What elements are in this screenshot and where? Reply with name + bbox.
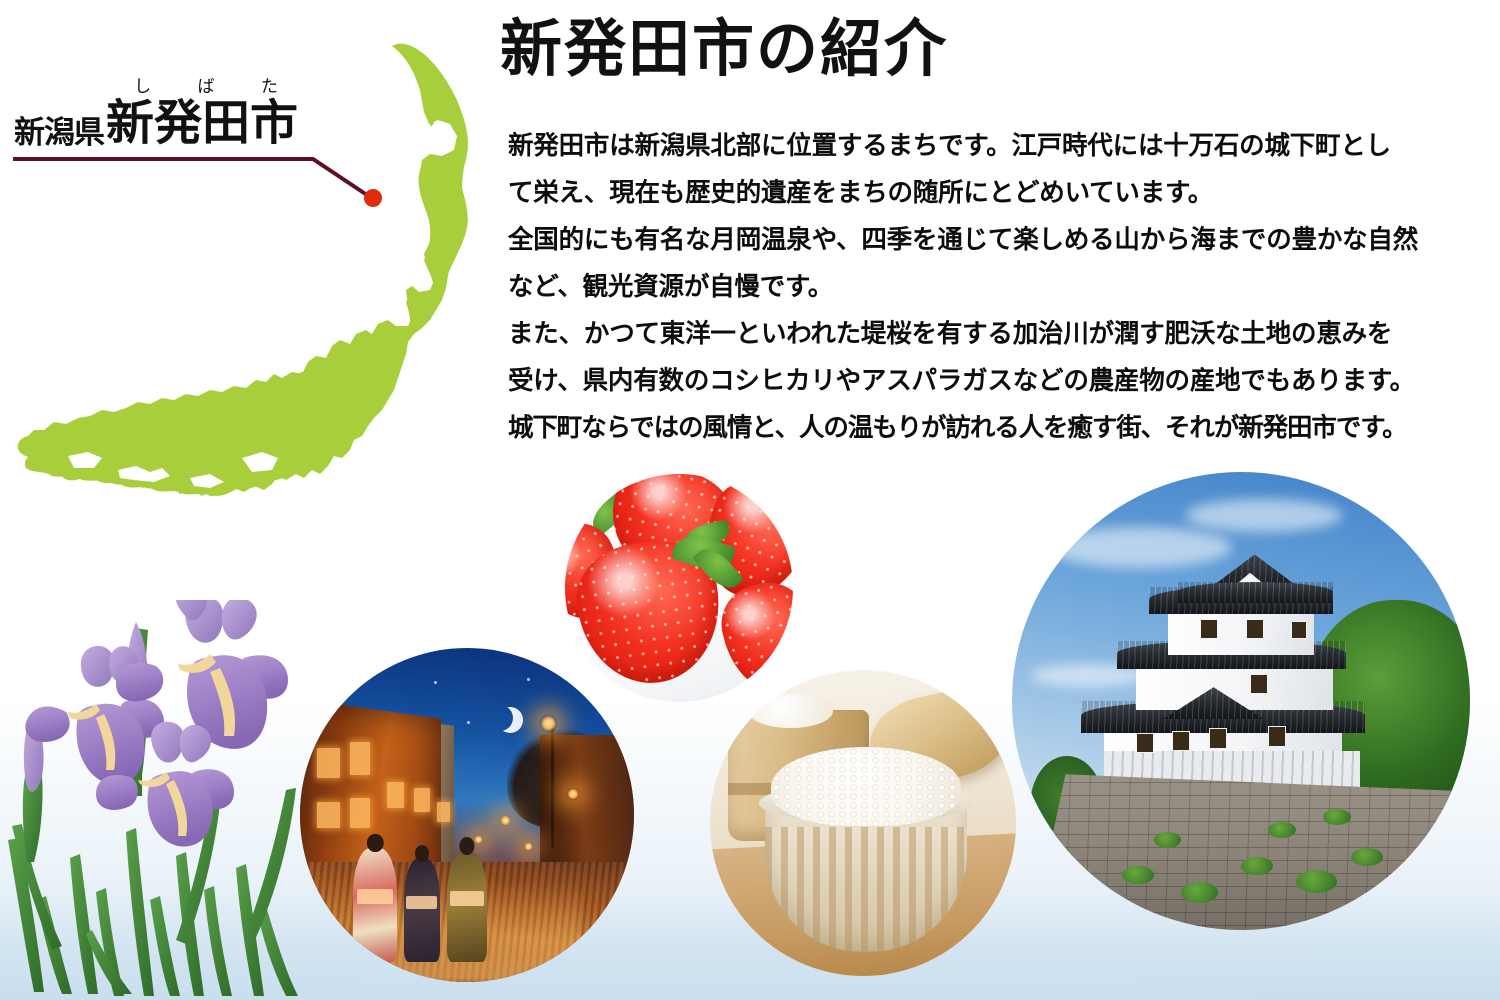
body-line-3: 全国的にも有名な月岡温泉や、四季を通じて楽しめる山から海までの豊かな自然: [508, 216, 1468, 263]
poster-canvas: し ば た 新潟県 新発田市 新発田市の紹介 新発田市は新潟県北部に位置するまち…: [0, 0, 1500, 1000]
body-line-6: 受け、県内有数のコシヒカリやアスパラガスなどの農産物の産地でもあります。: [508, 357, 1468, 404]
intro-body-text: 新発田市は新潟県北部に位置するまちです。江戸時代には十万石の城下町とし て栄え、…: [508, 122, 1468, 451]
body-line-2: て栄え、現在も歴史的遺産をまちの随所にとどめいています。: [508, 169, 1468, 216]
body-line-4: など、観光資源が自慢です。: [508, 263, 1468, 310]
iris-flowers-illustration: [0, 600, 330, 1000]
map-marker-dot: [364, 189, 382, 207]
map-label-text: 新潟県 新発田市: [14, 100, 298, 148]
body-line-7: 城下町ならではの風情と、人の温もりが訪れる人を癒す街、それが新発田市です。: [508, 404, 1468, 451]
koshihikari-rice-bowl-photo: [710, 670, 1016, 976]
ruby-char-2: ば: [197, 78, 214, 95]
map-leader-line: [0, 140, 420, 220]
shibata-castle-photo: [1012, 472, 1470, 930]
tsukioka-onsen-street-photo: [300, 648, 634, 982]
ruby-annotation: し ば た: [111, 78, 301, 95]
ruby-char-3: た: [261, 78, 278, 95]
prefecture-label: 新潟県: [14, 117, 104, 148]
ruby-char-1: し: [134, 78, 151, 95]
body-line-5: また、かつて東洋一といわれた堤桜を有する加治川が潤す肥沃な土地の恵みを: [508, 310, 1468, 357]
page-title: 新発田市の紹介: [500, 18, 948, 83]
body-line-1: 新発田市は新潟県北部に位置するまちです。江戸時代には十万石の城下町とし: [508, 122, 1468, 169]
city-label: 新発田市: [106, 100, 298, 148]
